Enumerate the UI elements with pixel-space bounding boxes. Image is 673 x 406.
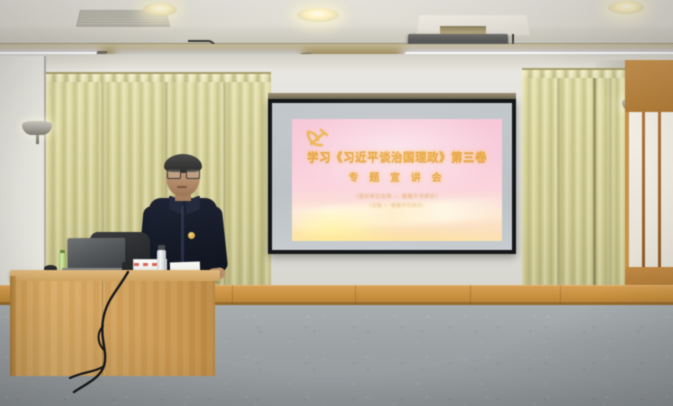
shirt-placket: [181, 206, 184, 268]
lecture-hall-scene: 学习《习近平谈治国理政》第三卷 专 题 宣 讲 会 （组织单位名称 — 模糊不可…: [0, 0, 673, 406]
presentation-slide: 学习《习近平谈治国理政》第三卷 专 题 宣 讲 会 （组织单位名称 — 模糊不可…: [292, 119, 502, 241]
wall-sconce-light-icon: [22, 121, 52, 144]
projection-screen: 学习《习近平谈治国理政》第三卷 专 题 宣 讲 会 （组织单位名称 — 模糊不可…: [268, 99, 516, 254]
slide-title: 学习《习近平谈治国理政》第三卷: [292, 149, 502, 165]
left-side-wall: [0, 56, 46, 292]
presenter: [136, 156, 232, 276]
desk-surface: [10, 270, 220, 281]
projection-screen-surface: 学习《习近平谈治国理政》第三卷 专 题 宣 讲 会 （组织单位名称 — 模糊不可…: [272, 103, 512, 250]
column-panel: [661, 112, 673, 267]
desk-side-panel: [10, 276, 16, 376]
hand-sanitizer-icon: [157, 250, 166, 272]
recessed-downlight-icon: [297, 8, 339, 22]
cpc-hammer-sickle-emblem-icon: [304, 127, 330, 151]
desk-wood-grain: [15, 281, 215, 376]
slide-organizer-text: （组织单位名称 — 模糊不可辨识）: [292, 193, 502, 200]
column-panel: [629, 112, 642, 267]
column-capital: [625, 60, 673, 112]
recessed-downlight-icon: [143, 3, 177, 16]
desk-panel-seam: [102, 281, 103, 376]
lapel-pin-icon: [188, 232, 195, 239]
slide-subtitle: 专 题 宣 讲 会: [292, 169, 502, 184]
column-panel: [645, 112, 658, 267]
slide-date-text: （日期 — 模糊不可辨识）: [292, 203, 502, 209]
presenter-mouth: [177, 186, 187, 188]
eyeglasses-icon: [167, 169, 199, 177]
slide-sun-glow: [300, 205, 384, 235]
curtain-seam: [593, 78, 596, 296]
laptop-icon[interactable]: [68, 238, 126, 272]
recessed-downlight-icon: [608, 1, 644, 14]
